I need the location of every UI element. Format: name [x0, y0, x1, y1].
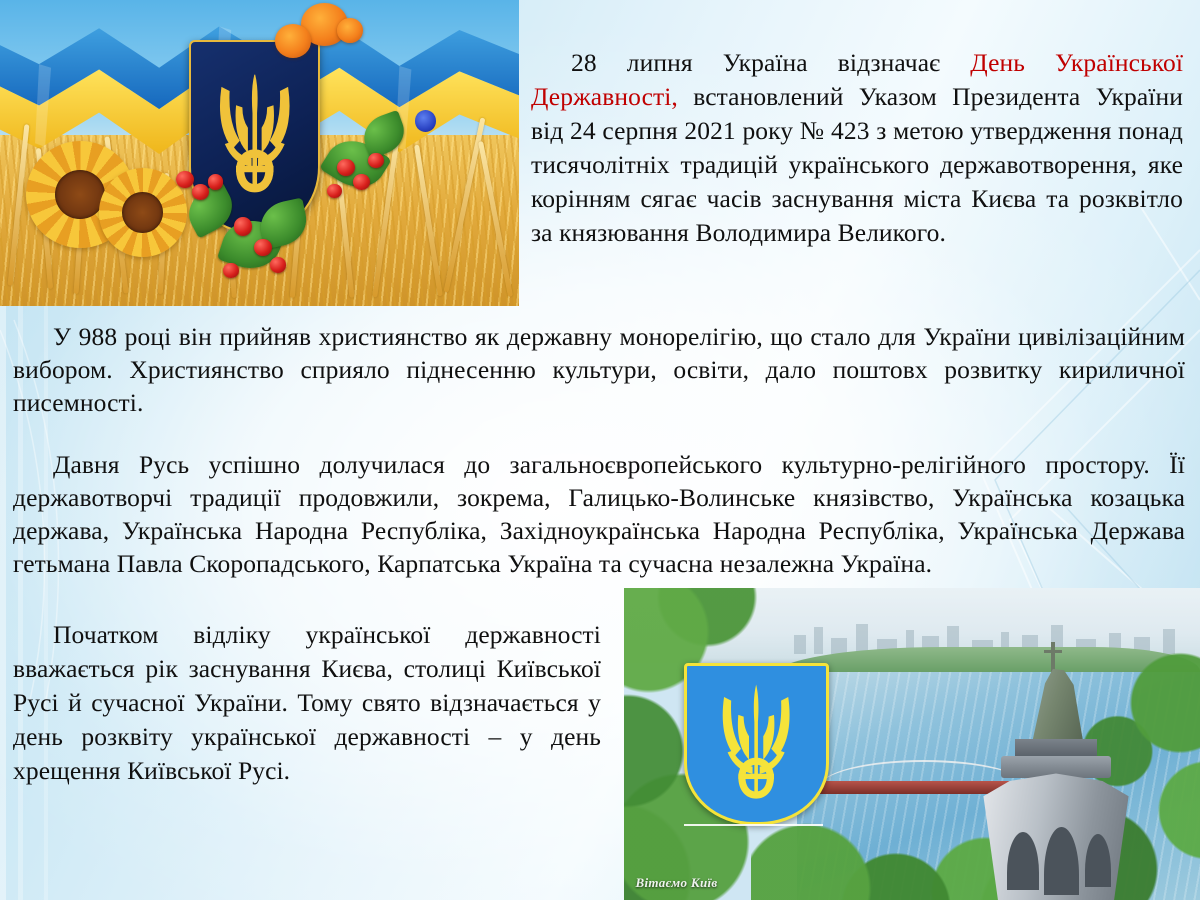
shield-underline — [684, 824, 822, 826]
statue-figure — [1018, 669, 1098, 742]
viburnum-berry — [234, 217, 253, 235]
cornflower — [415, 110, 436, 131]
coat-of-arms-shield — [684, 663, 828, 825]
paragraph-4: Початком відліку української державності… — [13, 618, 601, 788]
viburnum-berry — [223, 263, 239, 278]
slide-canvas: Вітаємо Київ 28 липня Україна відзначає … — [0, 0, 1200, 900]
monument-pedestal — [983, 773, 1128, 900]
viburnum-berry — [327, 184, 342, 198]
cross-icon — [1051, 642, 1055, 674]
paragraph-4-text: Початком відліку української державності… — [13, 618, 601, 788]
viburnum-berry — [353, 174, 370, 190]
tryzub-icon — [705, 681, 807, 806]
paragraph-3-text: Давня Русь успішно долучилася до загальн… — [13, 448, 1185, 581]
paragraph-2-text: У 988 році він прийняв християнство як д… — [13, 320, 1185, 419]
paragraph-2: У 988 році він прийняв християнство як д… — [13, 320, 1185, 419]
kyiv-dnipro-volodymyr-monument-photo: Вітаємо Київ — [624, 588, 1200, 900]
ukrainian-flag-wheat-field-photo — [0, 0, 519, 306]
paragraph-1-lead: 28 липня Україна відзначає — [571, 48, 970, 77]
viburnum-berry — [208, 174, 224, 189]
viburnum-berry — [192, 184, 209, 200]
sunflower — [99, 168, 187, 257]
paragraph-3: Давня Русь успішно долучилася до загальн… — [13, 448, 1185, 581]
volodymyr-the-great-monument — [970, 657, 1143, 900]
marigold-flower — [337, 18, 363, 42]
viburnum-berry — [254, 239, 272, 256]
paragraph-1: 28 липня Україна відзначає День Українсь… — [531, 46, 1183, 249]
photo-watermark: Вітаємо Київ — [636, 875, 718, 891]
